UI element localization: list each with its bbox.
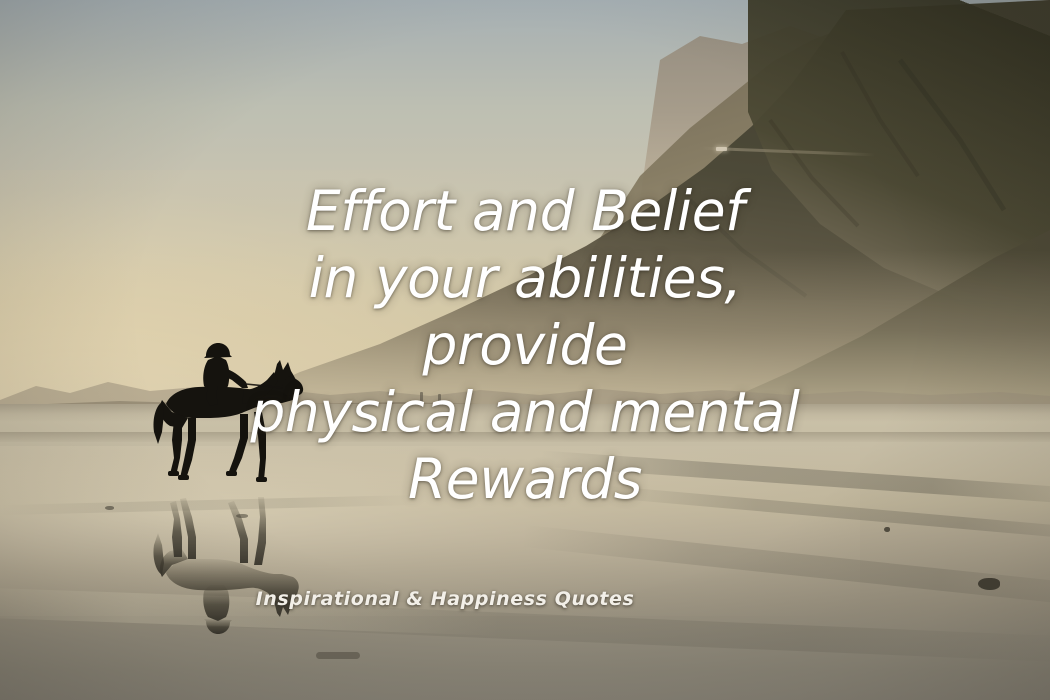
quote-text-block: Effort and Belief in your abilities, pro… xyxy=(0,178,1050,513)
attribution: Inspirational & Happiness Quotes xyxy=(0,588,1050,610)
quote-line-5: Rewards xyxy=(0,446,1050,513)
quote-line-1: Effort and Belief xyxy=(0,178,1050,245)
cliff-light-icon xyxy=(716,147,727,151)
attribution-text: Inspirational & Happiness Quotes xyxy=(256,588,635,610)
quote-line-2: in your abilities, xyxy=(0,245,1050,312)
beach-debris xyxy=(316,652,360,659)
beach-debris xyxy=(236,514,248,518)
beach-debris xyxy=(884,527,890,532)
quote-poster: Effort and Belief in your abilities, pro… xyxy=(0,0,1050,700)
quote-line-3: provide xyxy=(0,312,1050,379)
quote-line-4: physical and mental xyxy=(0,379,1050,446)
